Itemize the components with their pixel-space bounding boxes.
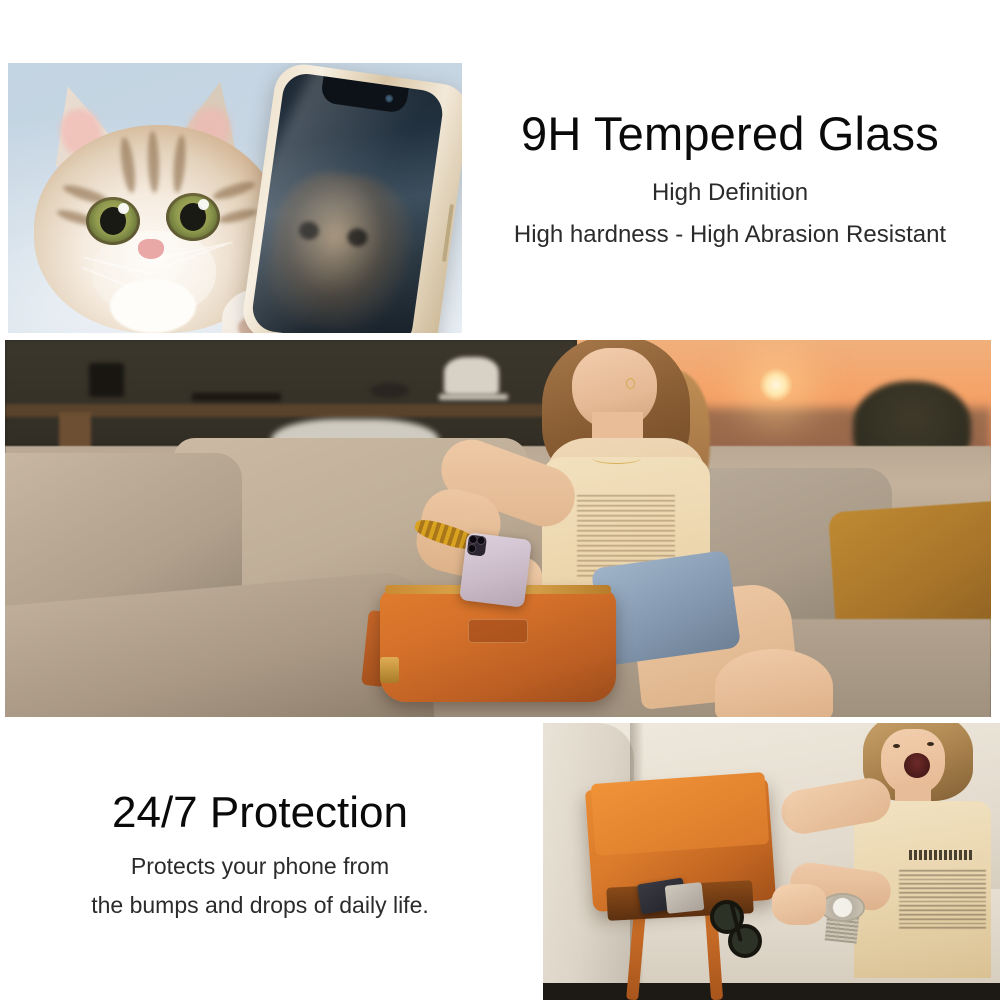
shocked-open-mouth	[904, 753, 930, 778]
shelf-box	[192, 393, 281, 401]
bag-brand-patch	[468, 619, 527, 644]
wooden-shelf	[5, 404, 577, 417]
collage-canvas: 9H Tempered Glass High Definition High h…	[0, 0, 1000, 1000]
lavender-phone	[460, 532, 533, 607]
tank-top-brand-print	[909, 850, 973, 860]
shocked-woman-eye	[893, 744, 900, 748]
phone-camera-module	[467, 534, 487, 556]
woman-knee	[715, 649, 833, 717]
kitten-right-eye	[166, 193, 220, 241]
gold-necklace	[592, 451, 641, 463]
tank-top-paragraph-print	[899, 870, 986, 931]
kitten-nose	[138, 239, 164, 259]
protection-heading: 24/7 Protection	[60, 790, 460, 836]
gold-iphone-device	[240, 63, 462, 333]
lamp-base	[439, 394, 508, 400]
protection-subtitle-2: the bumps and drops of daily life.	[60, 892, 460, 919]
kitten-chin	[110, 279, 196, 333]
wristwatch	[822, 895, 863, 920]
kitten-touching-phone-photo	[8, 63, 462, 333]
dark-floor	[543, 983, 1000, 1000]
table-lamp	[444, 357, 499, 395]
tempered-glass-subtitle-2: High hardness - High Abrasion Resistant	[470, 221, 990, 249]
falling-sunglasses	[708, 900, 781, 961]
tempered-glass-text-block: 9H Tempered Glass High Definition High h…	[470, 108, 990, 249]
protection-subtitle-1: Protects your phone from	[60, 853, 460, 880]
handbag-flap	[591, 772, 769, 856]
shelf-jar	[89, 363, 124, 397]
kitten-left-eye	[86, 197, 140, 245]
woman-putting-phone-in-bag-photo	[5, 340, 991, 717]
shocked-woman-hand-reaching	[772, 884, 827, 926]
bag-spilling-phone-photo	[543, 723, 1000, 1000]
protection-text-block: 24/7 Protection Protects your phone from…	[60, 790, 460, 919]
tempered-glass-subtitle-1: High Definition	[470, 179, 990, 207]
tempered-glass-heading: 9H Tempered Glass	[470, 108, 990, 160]
sunglasses-lens	[728, 924, 762, 958]
gold-hoop-earring	[626, 378, 635, 389]
orange-leather-handbag	[380, 589, 617, 702]
falling-item	[665, 882, 704, 913]
bag-zipper-pull	[380, 657, 400, 683]
